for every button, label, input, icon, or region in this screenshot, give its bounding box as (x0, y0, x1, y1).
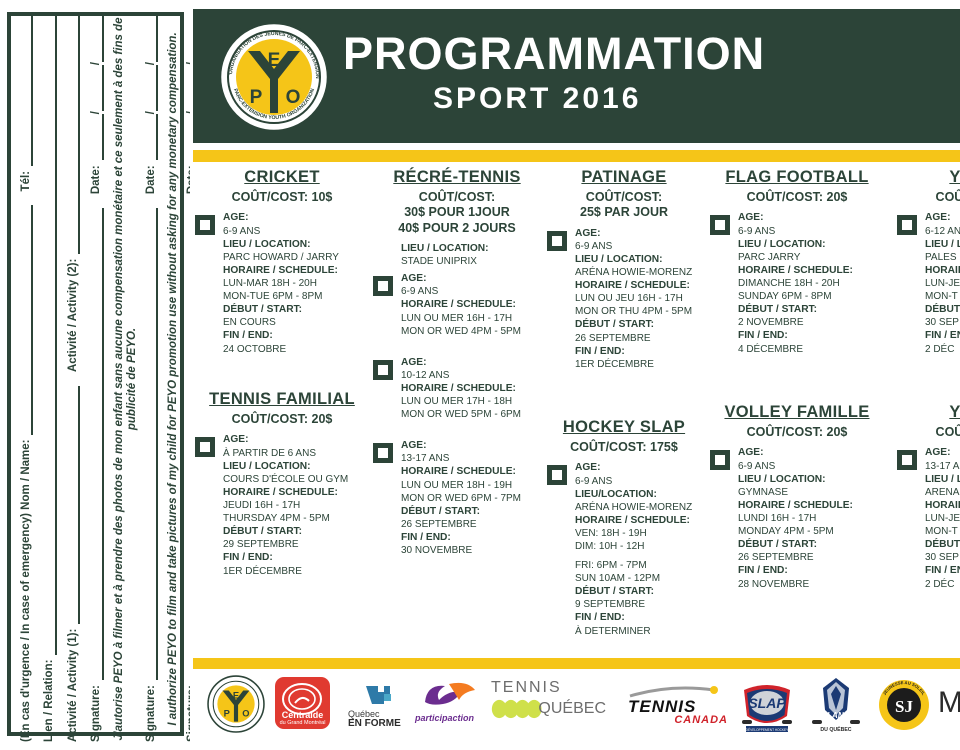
location-label: LIEU / LOCATION: (575, 253, 703, 266)
header-title-wrap: PROGRAMMATION SPORT 2016 (343, 31, 765, 114)
end-value: 2 DÉC (925, 343, 960, 356)
program-cost: COÛT/COST: 10$ (193, 190, 371, 205)
program-group: AGE:À PARTIR DE 6 ANSLIEU / LOCATION:COU… (193, 433, 371, 577)
program-cost: COÛT/COST: 175$ (545, 440, 703, 455)
program-cost: COÛT/COST: 20$ (193, 412, 371, 427)
schedule-label: HORAIRE / SCHEDULE: (575, 514, 703, 527)
svg-text:AVALANCHE: AVALANCHE (810, 711, 861, 720)
group-gap (371, 342, 543, 356)
start-value: 26 SEPTEMBRE (575, 332, 703, 345)
signature-row-1: Signature: Date: / / (89, 16, 103, 742)
age-value: 6-9 ANS (401, 285, 543, 298)
m-footer-logo: M (938, 686, 960, 720)
program-cost: COÛT/ (895, 190, 960, 205)
schedule-label: HORAIRE / SCHEDULE: (738, 499, 886, 512)
age-value: 10-12 ANS (401, 369, 543, 382)
schedule-label: HORAIRE / SCHEDULE: (401, 298, 543, 311)
program-cost: COÛT/COST: 20$ (708, 425, 886, 440)
avalanche-footer-logo: AVALANCHE DU QUÉBEC (807, 676, 865, 734)
start-value: 26 SEPTEMBRE (738, 551, 886, 564)
start-value: 26 SEPTEMBRE (401, 518, 543, 531)
program-card-y: YCOÛT/AGE:13-17 ALIEU / LOCATION:ARENAHO… (895, 403, 960, 595)
schedule-value: MON OR WED 5PM - 6PM (401, 408, 543, 421)
end-value: 1ER DÉCEMBRE (223, 565, 371, 578)
age-label: AGE: (401, 272, 543, 285)
end-label: FIN / END: (223, 551, 371, 564)
program-cost-line: 25$ PAR JOUR (545, 205, 703, 220)
program-cost-line: COÛT/ (895, 425, 960, 440)
program-checkbox[interactable] (710, 450, 730, 470)
schedule-label: HORAIRE / SCHEDULE: (738, 264, 886, 277)
age-value: 6-9 ANS (575, 240, 703, 253)
date-label-3: Date: (185, 165, 190, 194)
programs-grid: CRICKETCOÛT/COST: 10$AGE:6-9 ANSLIEU / L… (193, 168, 960, 655)
schedule-value: DIM: 10H - 12H (575, 540, 703, 553)
program-group: AGE:6-9 ANSLIEU/LOCATION:ARÉNA HOWIE-MOR… (545, 461, 703, 637)
end-value: 30 NOVEMBRE (401, 544, 543, 557)
location-value: PARC HOWARD / JARRY (223, 251, 371, 264)
end-label: FIN / END: (223, 329, 371, 342)
start-label: DÉBUT / START: (925, 538, 960, 551)
activity-row: Activité / Activity (1): Activité / Acti… (66, 16, 80, 742)
consent-text-en: I authorize PEYO to film and take pictur… (167, 16, 181, 742)
start-label: DÉBUT / START: (575, 318, 703, 331)
date-slash-3: / (185, 111, 190, 114)
quebec-en-forme-label-2: EN FORME (348, 719, 408, 729)
location-label: LIEU / LOCATION: (401, 242, 543, 255)
divider-bar-top (193, 150, 960, 162)
program-card-r-cr-tennis: RÉCRÉ-TENNISCOÛT/COST:30$ POUR 1JOUR40$ … (371, 168, 543, 561)
location-value: COURS D'ÉCOLE OU GYM (223, 473, 371, 486)
entry-body: AGE:6-9 ANSLIEU / LOCATION:ARÉNA HOWIE-M… (575, 227, 703, 371)
schedule-value: SUN 10AM - 12PM (575, 572, 703, 585)
age-label: AGE: (738, 211, 886, 224)
age-value: À PARTIR DE 6 ANS (223, 447, 371, 460)
program-card-volley-famille: VOLLEY FAMILLECOÛT/COST: 20$AGE:6-9 ANSL… (708, 403, 886, 595)
program-card-flag-football: FLAG FOOTBALLCOÛT/COST: 20$AGE:6-9 ANSLI… (708, 168, 886, 360)
location-value: PARC JARRY (738, 251, 886, 264)
age-label: AGE: (223, 433, 371, 446)
program-cost: COÛT/ (895, 425, 960, 440)
svg-text:E: E (233, 690, 239, 700)
location-label: LIEU / LOCATION: (738, 238, 886, 251)
program-cost-line: COÛT/COST: 10$ (193, 190, 371, 205)
age-value: 6-9 ANS (223, 225, 371, 238)
entry-body: AGE:6-9 ANSLIEU / LOCATION:PARC HOWARD /… (223, 211, 371, 355)
program-checkbox[interactable] (897, 450, 917, 470)
program-card-hockey-slap: HOCKEY SLAPCOÛT/COST: 175$AGE:6-9 ANSLIE… (545, 418, 703, 642)
start-label: DÉBUT / START: (738, 538, 886, 551)
date-year-2[interactable] (145, 16, 158, 62)
signature-label-2: Signature: (144, 685, 158, 742)
location-label: LIEU / LOCATION: (925, 238, 960, 251)
date-year-3[interactable] (187, 16, 190, 62)
date-year-1[interactable] (91, 16, 104, 62)
age-value: 6-9 ANS (738, 460, 886, 473)
location-label: LIEU / LOCATION: (223, 460, 371, 473)
schedule-value: MON-T (925, 290, 960, 303)
schedule-value: LUN-MAR 18H - 20H (223, 277, 371, 290)
signature-input-2[interactable] (145, 208, 158, 680)
program-shared-location: LIEU / LOCATION:STADE UNIPRIX (371, 242, 543, 268)
start-value: 2 NOVEMBRE (738, 316, 886, 329)
program-title: FLAG FOOTBALL (708, 168, 886, 187)
end-label: FIN / END: (738, 564, 886, 577)
tennis-quebec-footer-logo: TENNIS QUÉBEC (491, 680, 606, 728)
end-label: FIN / END: (575, 345, 703, 358)
schedule-label: HORAIRE / SCHEDULE: (925, 499, 960, 512)
program-title: RÉCRÉ-TENNIS (371, 168, 543, 187)
program-cost: COÛT/COST: 20$ (708, 190, 886, 205)
relation-label: Lien / Relation: (42, 660, 56, 742)
program-group: AGE:13-17 ANSHORAIRE / SCHEDULE:LUN OU M… (371, 439, 543, 557)
schedule-value: LUN OU JEU 16H - 17H (575, 292, 703, 305)
program-checkbox[interactable] (195, 437, 215, 457)
svg-text:O: O (242, 708, 249, 718)
schedule-value: MON OR THU 4PM - 5PM (575, 305, 703, 318)
registration-form-rotated: (En cas d'urgence / In case of emergency… (19, 16, 189, 742)
program-checkbox[interactable] (373, 360, 393, 380)
program-checkbox[interactable] (547, 231, 567, 251)
tennis-canada-footer-logo: TENNIS CANADA (628, 686, 728, 726)
program-group: AGE:6-9 ANSLIEU / LOCATION:GYMNASEHORAIR… (708, 446, 886, 590)
page-header: E P O L'ORGANISATION DES JEUNES DE PARC-… (193, 9, 960, 143)
program-cost-line: COÛT/COST: 20$ (708, 190, 886, 205)
location-value: GYMNASE (738, 486, 886, 499)
program-title: HOCKEY SLAP (545, 418, 703, 437)
location-value: PALES (925, 251, 960, 264)
signature-label-1: Signature: (89, 685, 103, 742)
schedule-value: LUN-JE (925, 277, 960, 290)
slap-footer-logo: SLAP DÉVELOPPEMENT HOCKEY (738, 676, 796, 734)
program-group: AGE:6-9 ANSHORAIRE / SCHEDULE:LUN OU MER… (371, 272, 543, 338)
registration-form-sidebar: (En cas d'urgence / In case of emergency… (0, 0, 190, 750)
schedule-value: MON OR WED 4PM - 5PM (401, 325, 543, 338)
parent-name-row: (En cas d'urgence / In case of emergency… (19, 16, 33, 742)
entry-body: AGE:6-12 ANLIEU / LOCATION:PALESHORAIRE … (925, 211, 960, 355)
schedule-value: MON OR WED 6PM - 7PM (401, 492, 543, 505)
tel-label: Tél: (19, 171, 33, 191)
program-checkbox[interactable] (710, 215, 730, 235)
date-slash-3b: / (185, 62, 190, 65)
location-value: ARÉNA HOWIE-MORENZ (575, 501, 703, 514)
participaction-footer-logo: participaction (415, 680, 483, 728)
centraide-sub: du Grand Montréal (275, 720, 330, 726)
schedule-label: HORAIRE / SCHEDULE: (223, 264, 371, 277)
peyo-logo-icon: E P O L'ORGANISATION DES JEUNES DE PARC-… (218, 21, 330, 133)
schedule-value: LUN OU MER 17H - 18H (401, 395, 543, 408)
age-value: 13-17 ANS (401, 452, 543, 465)
schedule-label: HORAIRE / SCHEDULE: (575, 279, 703, 292)
date-month-3[interactable] (187, 65, 190, 111)
signature-input-3[interactable] (187, 208, 190, 680)
end-value: À DETERMINER (575, 625, 703, 638)
schedule-value: MONDAY 4PM - 5PM (738, 525, 886, 538)
program-cost-line: COÛT/COST: 20$ (193, 412, 371, 427)
date-day-2[interactable] (145, 114, 158, 160)
program-group: AGE:6-9 ANSLIEU / LOCATION:PARC HOWARD /… (193, 211, 371, 355)
peyo-footer-logo: E P O (207, 675, 265, 738)
consent-text-fr: J'autorise PEYO à filmer et à prendre de… (113, 16, 141, 742)
date-day-3[interactable] (187, 114, 190, 160)
program-title: Y (895, 168, 960, 187)
location-label: LIEU / LOCATION: (223, 238, 371, 251)
date-label-2: Date: (144, 165, 158, 194)
schedule-value: LUN-JE (925, 512, 960, 525)
program-title: PATINAGE (545, 168, 703, 187)
schedule-value: DIMANCHE 18H - 20H (738, 277, 886, 290)
age-label: AGE: (223, 211, 371, 224)
age-label: AGE: (575, 461, 703, 474)
date-slash-1b: / (89, 62, 103, 65)
age-label: AGE: (925, 211, 960, 224)
divider-bar-bottom (193, 658, 960, 669)
location-value: STADE UNIPRIX (401, 255, 543, 268)
svg-text:DÉVELOPPEMENT HOCKEY: DÉVELOPPEMENT HOCKEY (746, 727, 790, 732)
end-value: 28 NOVEMBRE (738, 578, 886, 591)
age-value: 6-12 AN (925, 225, 960, 238)
activity2-label: Activité / Activity (2): (66, 259, 80, 372)
schedule-value: JEUDI 16H - 17H (223, 499, 371, 512)
program-group: AGE:6-9 ANSLIEU / LOCATION:PARC JARRYHOR… (708, 211, 886, 355)
start-label: DÉBUT / START: (223, 525, 371, 538)
age-value: 6-9 ANS (575, 475, 703, 488)
svg-text:DU QUÉBEC: DU QUÉBEC (820, 725, 851, 733)
schedule-value: LUNDI 16H - 17H (738, 512, 886, 525)
checkbox-spacer (373, 246, 393, 266)
entry-body: AGE:6-9 ANSLIEU / LOCATION:PARC JARRYHOR… (738, 211, 886, 355)
location-value: ARÉNA HOWIE-MORENZ (575, 266, 703, 279)
end-label: FIN / END: (575, 611, 703, 624)
program-card-tennis-familial: TENNIS FAMILIALCOÛT/COST: 20$AGE:À PARTI… (193, 390, 371, 582)
location-value: ARENA (925, 486, 960, 499)
program-cost: COÛT/COST:30$ POUR 1JOUR40$ POUR 2 JOURS (371, 190, 543, 236)
activity1-label: Activité / Activity (1): (66, 629, 80, 742)
relation-row: Lien / Relation: (42, 16, 56, 742)
m-label: M (938, 686, 960, 719)
start-label: DÉBUT / START: (925, 303, 960, 316)
date-slash-2: / (144, 111, 158, 114)
age-label: AGE: (401, 439, 543, 452)
tennis-canada-label-1: TENNIS (628, 698, 728, 715)
entry-body: AGE:10-12 ANSHORAIRE / SCHEDULE:LUN OU M… (401, 356, 543, 422)
schedule-value: MON-TUE 6PM - 8PM (223, 290, 371, 303)
entry-body: AGE:À PARTIR DE 6 ANSLIEU / LOCATION:COU… (223, 433, 371, 577)
svg-text:P: P (250, 87, 263, 108)
program-cost-line: COÛT/COST: 175$ (545, 440, 703, 455)
signature-row-3: Signature: Date: / / (185, 16, 190, 742)
end-value: 4 DÉCEMBRE (738, 343, 886, 356)
date-day-1[interactable] (91, 114, 104, 160)
parent-name-input[interactable] (20, 205, 33, 434)
schedule-value: SUNDAY 6PM - 8PM (738, 290, 886, 303)
program-card-cricket: CRICKETCOÛT/COST: 10$AGE:6-9 ANSLIEU / L… (193, 168, 371, 360)
location-label: LIEU / LOCATION: (738, 473, 886, 486)
tel-input[interactable] (20, 16, 33, 166)
age-value: 13-17 A (925, 460, 960, 473)
program-title: VOLLEY FAMILLE (708, 403, 886, 422)
activity2-input[interactable] (67, 16, 80, 254)
schedule-label: HORAIRE / SCHEDULE: (925, 264, 960, 277)
start-label: DÉBUT / START: (575, 585, 703, 598)
end-label: FIN / END: (738, 329, 886, 342)
program-card-patinage: PATINAGECOÛT/COST:25$ PAR JOURAGE:6-9 AN… (545, 168, 703, 375)
signature-row-2: Signature: Date: / / (144, 16, 158, 742)
program-group: AGE:6-12 ANLIEU / LOCATION:PALESHORAIRE … (895, 211, 960, 355)
date-month-1[interactable] (91, 65, 104, 111)
age-value: 6-9 ANS (738, 225, 886, 238)
entry-body: AGE:6-9 ANSLIEU / LOCATION:GYMNASEHORAIR… (738, 446, 886, 590)
start-value: 29 SEPTEMBRE (223, 538, 371, 551)
program-cost-line: COÛT/COST: 20$ (708, 425, 886, 440)
program-checkbox[interactable] (897, 215, 917, 235)
relation-input[interactable] (44, 16, 57, 655)
end-value: 2 DÉC (925, 578, 960, 591)
program-cost: COÛT/COST:25$ PAR JOUR (545, 190, 703, 221)
svg-text:P: P (224, 708, 230, 718)
start-label: DÉBUT / START: (223, 303, 371, 316)
schedule-label: HORAIRE / SCHEDULE: (223, 486, 371, 499)
tennis-canada-label-2: CANADA (628, 715, 728, 726)
start-value: 30 SEP (925, 316, 960, 329)
activity1-input[interactable] (67, 386, 80, 624)
svg-text:SLAP: SLAP (748, 695, 786, 711)
entry-body: AGE:6-9 ANSLIEU/LOCATION:ARÉNA HOWIE-MOR… (575, 461, 703, 637)
page-subtitle: SPORT 2016 (433, 84, 765, 114)
start-value: 9 SEPTEMBRE (575, 598, 703, 611)
start-label: DÉBUT / START: (401, 505, 543, 518)
program-group: AGE:6-9 ANSLIEU / LOCATION:ARÉNA HOWIE-M… (545, 227, 703, 371)
program-cost-line: 30$ POUR 1JOUR (371, 205, 543, 220)
date-label-1: Date: (89, 165, 103, 194)
group-gap (371, 425, 543, 439)
program-cost-line: COÛT/ (895, 190, 960, 205)
end-label: FIN / END: (401, 531, 543, 544)
program-checkbox[interactable] (547, 465, 567, 485)
schedule-value: THURSDAY 4PM - 5PM (223, 512, 371, 525)
age-label: AGE: (401, 356, 543, 369)
entry-body: AGE:13-17 ANSHORAIRE / SCHEDULE:LUN OU M… (401, 439, 543, 557)
end-label: FIN / END: (925, 564, 960, 577)
start-label: DÉBUT / START: (738, 303, 886, 316)
entry-body: AGE:6-9 ANSHORAIRE / SCHEDULE:LUN OU MER… (401, 272, 543, 338)
end-label: FIN / END: (925, 329, 960, 342)
parent-name-label: (En cas d'urgence / In case of emergency… (19, 440, 33, 742)
participaction-label: participaction (415, 714, 483, 723)
age-label: AGE: (925, 446, 960, 459)
date-month-2[interactable] (145, 65, 158, 111)
entry-body: LIEU / LOCATION:STADE UNIPRIX (401, 242, 543, 268)
schedule-value: LUN OU MER 18H - 19H (401, 479, 543, 492)
location-label: LIEU/LOCATION: (575, 488, 703, 501)
centraide-footer-logo: Centraide du Grand Montréal (275, 677, 330, 729)
program-title: CRICKET (193, 168, 371, 187)
program-group: AGE:10-12 ANSHORAIRE / SCHEDULE:LUN OU M… (371, 356, 543, 422)
schedule-value: MON-T (925, 525, 960, 538)
program-title: TENNIS FAMILIAL (193, 390, 371, 409)
signature-input-1[interactable] (91, 208, 104, 680)
centraide-label: Centraide (275, 710, 330, 720)
program-cost-line: COÛT/COST: (545, 190, 703, 205)
program-checkbox[interactable] (195, 215, 215, 235)
schedule-label: HORAIRE / SCHEDULE: (401, 465, 543, 478)
tennis-quebec-label-2: QUÉBEC (538, 701, 606, 717)
entry-body: AGE:13-17 ALIEU / LOCATION:ARENAHORAIRE … (925, 446, 960, 590)
quebec-en-forme-footer-logo: Québec EN FORME (348, 682, 408, 728)
location-label: LIEU / LOCATION: (925, 473, 960, 486)
sponsor-logos-footer: E P O Centraide du Grand Montréal Québec… (193, 672, 960, 750)
date-slash-2b: / (144, 62, 158, 65)
program-cost-line: COÛT/COST: (371, 190, 543, 205)
svg-text:SJ: SJ (895, 697, 913, 716)
program-group: AGE:13-17 ALIEU / LOCATION:ARENAHORAIRE … (895, 446, 960, 590)
program-checkbox[interactable] (373, 276, 393, 296)
start-value: EN COURS (223, 316, 371, 329)
schedule-value: LUN OU MER 16H - 17H (401, 312, 543, 325)
program-checkbox[interactable] (373, 443, 393, 463)
age-label: AGE: (575, 227, 703, 240)
schedule-label: HORAIRE / SCHEDULE: (401, 382, 543, 395)
tennis-quebec-label-1: TENNIS (491, 680, 606, 696)
end-value: 1ER DÉCEMBRE (575, 358, 703, 371)
svg-text:E: E (268, 50, 281, 71)
schedule-value: VEN: 18H - 19H (575, 527, 703, 540)
schedule-value: FRI: 6PM - 7PM (575, 559, 703, 572)
program-card-y: YCOÛT/AGE:6-12 ANLIEU / LOCATION:PALESHO… (895, 168, 960, 360)
svg-text:O: O (286, 87, 301, 108)
signature-label-3: Signature: (185, 685, 190, 742)
sidebar-frame: (En cas d'urgence / In case of emergency… (7, 12, 184, 736)
page-title: PROGRAMMATION (343, 31, 765, 76)
age-label: AGE: (738, 446, 886, 459)
start-value: 30 SEP (925, 551, 960, 564)
program-cost-line: 40$ POUR 2 JOURS (371, 221, 543, 236)
end-value: 24 OCTOBRE (223, 343, 371, 356)
jeunesse-au-soleil-footer-logo: SJ JEUNESSE AU SOLEIL (878, 679, 930, 731)
program-title: Y (895, 403, 960, 422)
date-slash-1: / (89, 111, 103, 114)
